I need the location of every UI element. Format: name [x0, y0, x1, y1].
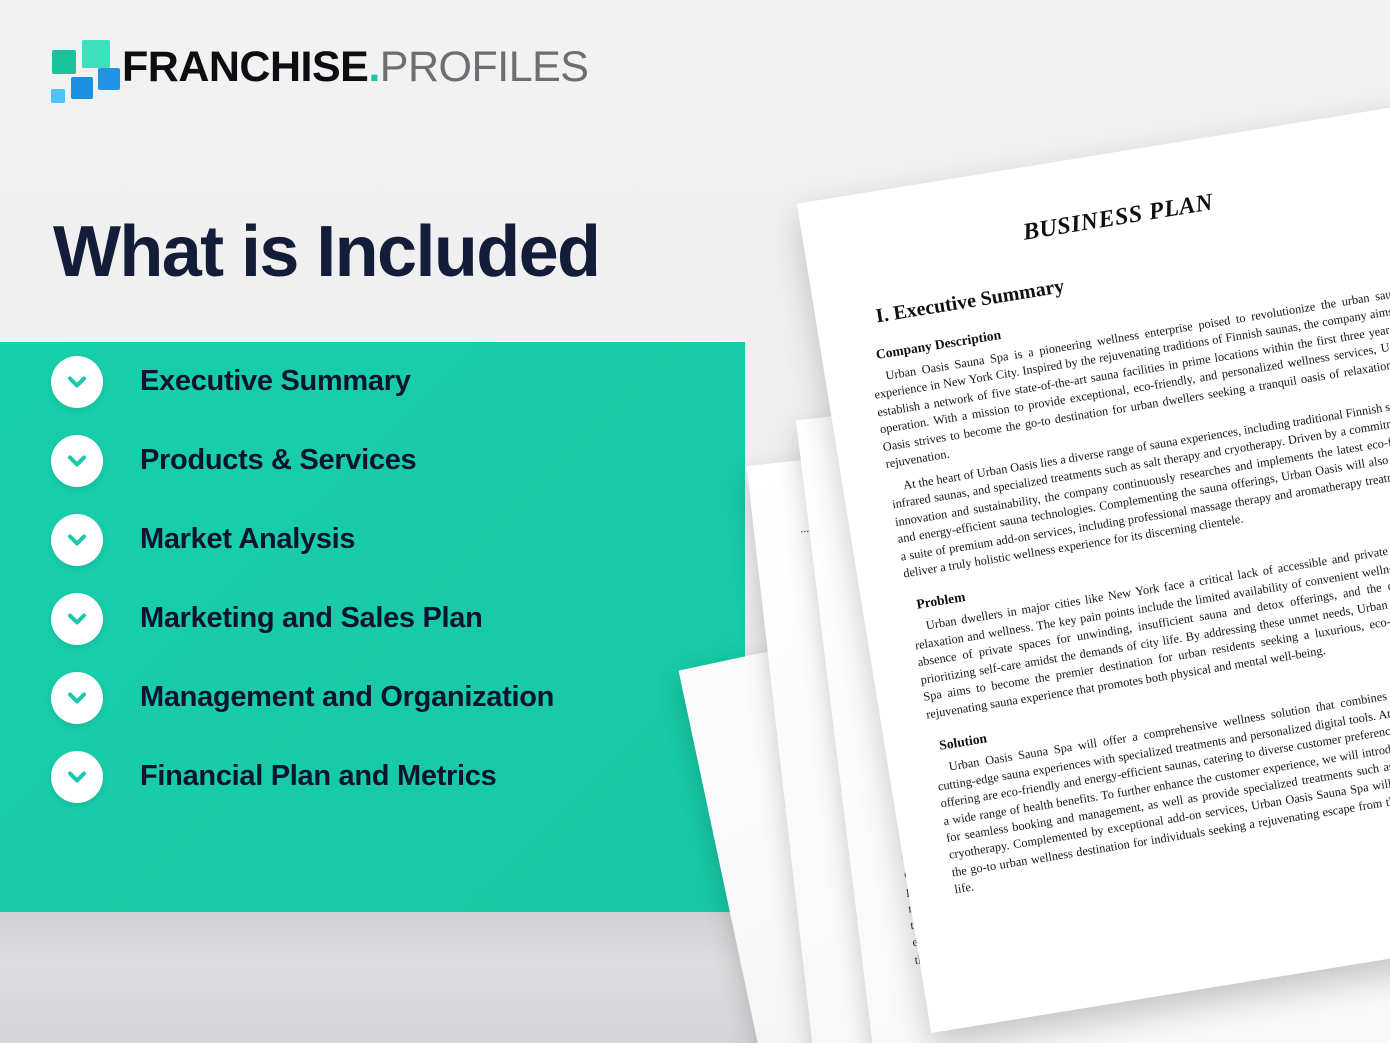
list-item-label: Market Analysis [140, 523, 355, 556]
logo-square-blue [98, 68, 120, 90]
list-item-label: Management and Organization [140, 681, 554, 714]
chevron-down-icon [51, 672, 103, 724]
brand-name-light: PROFILES [380, 43, 589, 91]
list-item[interactable]: Market Analysis [0, 500, 745, 579]
chevron-down-icon [51, 514, 103, 566]
slide-canvas: FRANCHISE.PROFILES What is Included Exec… [0, 0, 1390, 1043]
brand-name-bold: FRANCHISE [122, 43, 368, 91]
list-item[interactable]: Products & Services [0, 421, 745, 500]
chevron-down-icon [51, 356, 103, 408]
list-item-label: Products & Services [140, 444, 416, 477]
chevron-down-icon [51, 751, 103, 803]
chevron-down-icon [51, 593, 103, 645]
brand-dot: . [368, 43, 379, 91]
brand-wordmark: FRANCHISE.PROFILES [122, 46, 588, 89]
logo-square-blue-small [51, 89, 65, 103]
list-item[interactable]: Management and Organization [0, 658, 745, 737]
page-title: What is Included [53, 216, 599, 288]
logo-square-blue-mid [71, 77, 93, 99]
list-item-label: Executive Summary [140, 365, 411, 398]
list-item[interactable]: Executive Summary [0, 342, 745, 421]
list-item-label: Marketing and Sales Plan [140, 602, 483, 635]
business-plan-document-stack[interactable]: ...an wellness ...by exceptional ...ands… [690, 130, 1390, 1043]
brand-logo[interactable]: FRANCHISE.PROFILES [44, 38, 588, 96]
list-item[interactable]: Marketing and Sales Plan [0, 579, 745, 658]
list-item[interactable]: Financial Plan and Metrics [0, 737, 745, 816]
included-list: Executive Summary Products & Services Ma… [0, 342, 745, 816]
logo-square-teal-light [82, 40, 110, 68]
chevron-down-icon [51, 435, 103, 487]
list-item-label: Financial Plan and Metrics [140, 760, 496, 793]
five-squares-logo-icon [44, 38, 106, 96]
logo-square-teal-dark [52, 50, 76, 74]
